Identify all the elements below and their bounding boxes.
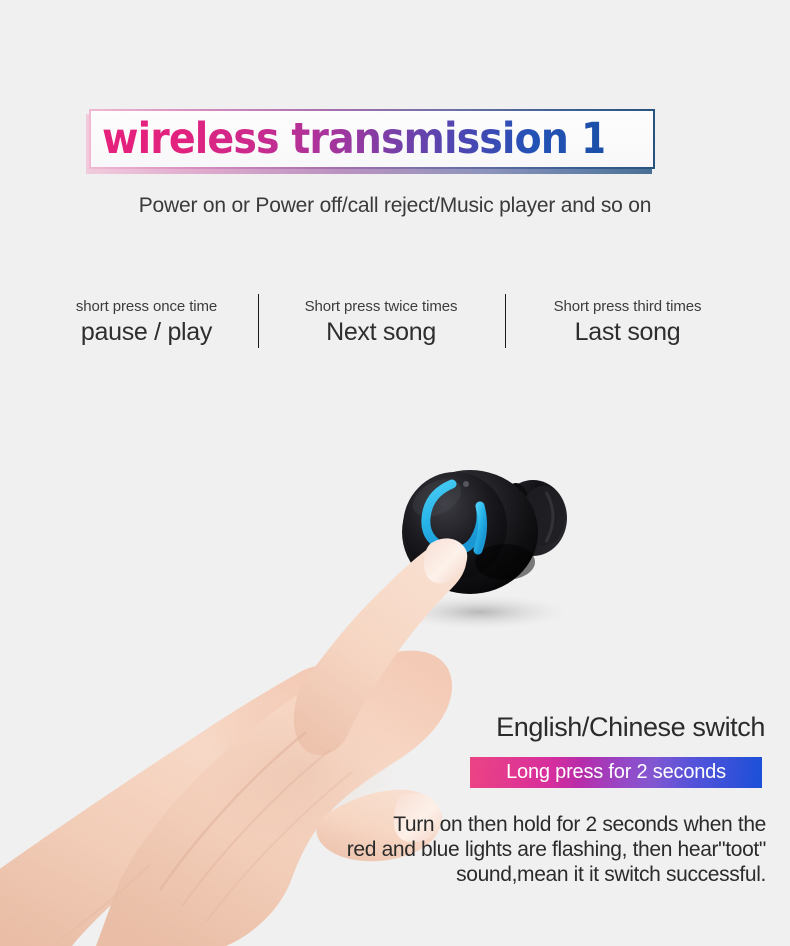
press-action: pause / play <box>44 317 249 347</box>
description-line: sound,mean it it switch successful. <box>300 862 766 887</box>
press-caption: Short press third times <box>520 298 735 316</box>
long-press-banner: Long press for 2 seconds <box>470 757 762 788</box>
press-control-twice: Short press twice times Next song <box>272 298 490 347</box>
mic-hole <box>463 481 469 487</box>
switch-heading: English/Chinese switch <box>330 712 765 743</box>
description-line: Turn on then hold for 2 seconds when the <box>300 812 766 837</box>
press-action: Last song <box>520 317 735 347</box>
product-infographic: wireless transmission 10m Power on or Po… <box>0 0 790 946</box>
switch-description: Turn on then hold for 2 seconds when the… <box>300 812 766 887</box>
description-line: red and blue lights are flashing, then h… <box>300 837 766 862</box>
press-action: Next song <box>272 317 490 347</box>
column-divider <box>258 294 259 348</box>
long-press-banner-label: Long press for 2 seconds <box>470 757 762 788</box>
press-caption: Short press twice times <box>272 298 490 316</box>
press-control-once: short press once time pause / play <box>44 298 249 347</box>
page-subtitle: Power on or Power off/call reject/Music … <box>0 194 790 218</box>
press-controls-row: short press once time pause / play Short… <box>0 298 790 358</box>
press-caption: short press once time <box>44 298 249 316</box>
column-divider <box>505 294 506 348</box>
press-control-third: Short press third times Last song <box>520 298 735 347</box>
page-title: wireless transmission 10m <box>102 113 603 165</box>
